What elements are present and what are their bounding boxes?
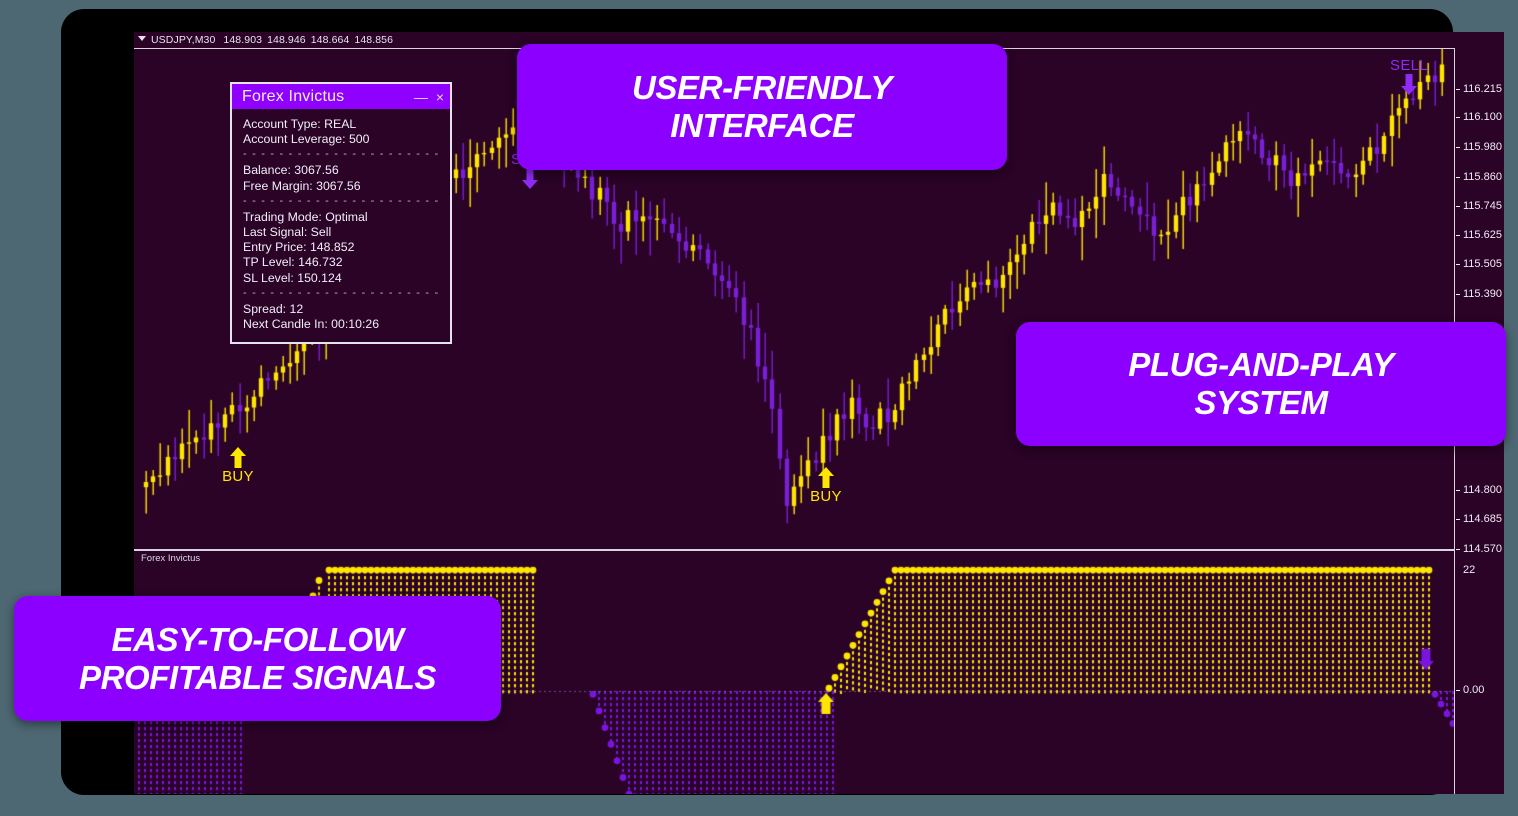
signal-label: SELL — [1369, 57, 1449, 74]
price-tick — [1456, 177, 1460, 178]
forex-invictus-panel[interactable]: Forex Invictus — × Account Type: REAL Ac… — [230, 82, 452, 344]
banner-easy-to-follow: EASY-TO-FOLLOW PROFITABLE SIGNALS — [14, 596, 501, 721]
price-tick-label: 115.860 — [1463, 171, 1502, 183]
panel-body: Account Type: REAL Account Leverage: 500… — [232, 109, 450, 332]
price-tick-label: 114.800 — [1463, 484, 1502, 496]
tp-level-row: TP Level: 146.732 — [243, 255, 450, 270]
price-tick-label: 115.390 — [1463, 288, 1502, 300]
arrow-up-icon — [818, 467, 834, 488]
banner-top-line1: USER-FRIENDLY — [632, 69, 892, 107]
spread-row: Spread: 12 — [243, 302, 450, 317]
indicator-name-label: Forex Invictus — [141, 553, 200, 564]
signal-label: BUY — [786, 488, 866, 505]
banner-plug-and-play: PLUG-AND-PLAY SYSTEM — [1016, 322, 1506, 446]
panel-titlebar[interactable]: Forex Invictus — × — [232, 84, 450, 109]
arrow-down-icon — [1401, 74, 1417, 95]
banner-right-line1: PLUG-AND-PLAY — [1128, 346, 1394, 384]
account-leverage-row: Account Leverage: 500 — [243, 132, 450, 147]
ohlc-values: 148.903148.946148.664148.856 — [223, 34, 398, 46]
price-tick — [1456, 147, 1460, 148]
indicator-scale-axis[interactable]: 220.00-22 — [1456, 550, 1504, 794]
arrow-down-icon — [522, 168, 538, 189]
ohlc-high: 148.946 — [267, 34, 306, 46]
price-tick — [1456, 117, 1460, 118]
price-scale-axis[interactable]: 116.215116.100115.980115.860115.745115.6… — [1456, 48, 1504, 550]
triangle-down-icon[interactable] — [138, 36, 146, 41]
arrow-up-icon — [230, 447, 246, 468]
screenshot-root: USDJPY,M30148.903148.946148.664148.856 B… — [0, 0, 1518, 816]
price-tick — [1456, 294, 1460, 295]
divider-1: - - - - - - - - - - - - - - - - - - - - … — [243, 148, 439, 161]
ohlc-close: 148.856 — [354, 34, 393, 46]
price-tick — [1456, 206, 1460, 207]
price-tick-label: 115.505 — [1463, 258, 1502, 270]
ohlc-low: 148.664 — [311, 34, 350, 46]
price-tick-label: 116.215 — [1463, 83, 1502, 95]
price-tick — [1456, 264, 1460, 265]
banner-top-line2: INTERFACE — [670, 107, 853, 145]
panel-title-label: Forex Invictus — [242, 88, 406, 106]
price-tick — [1456, 490, 1460, 491]
price-tick-label: 116.100 — [1463, 111, 1502, 123]
banner-user-friendly: USER-FRIENDLY INTERFACE — [517, 44, 1007, 170]
indicator-tick-label: 0.00 — [1463, 684, 1484, 696]
banner-left-line2: PROFITABLE SIGNALS — [79, 659, 436, 697]
indicator-tick-label: 22 — [1463, 564, 1475, 576]
signal-marker-sell: SELL — [1369, 57, 1449, 95]
price-tick-label: 114.685 — [1463, 513, 1502, 525]
signal-label: BUY — [198, 468, 278, 485]
price-tick — [1456, 89, 1460, 90]
sl-level-row: SL Level: 150.124 — [243, 271, 450, 286]
close-icon[interactable]: × — [436, 90, 444, 104]
price-tick — [1456, 519, 1460, 520]
trading-mode-row: Trading Mode: Optimal — [243, 210, 450, 225]
last-signal-row: Last Signal: Sell — [243, 225, 450, 240]
price-tick-label: 115.745 — [1463, 200, 1502, 212]
signal-marker-buy: BUY — [786, 467, 866, 505]
indicator-tick — [1456, 690, 1460, 691]
price-tick-label: 115.625 — [1463, 229, 1502, 241]
next-candle-row: Next Candle In: 00:10:26 — [243, 317, 450, 332]
free-margin-row: Free Margin: 3067.56 — [243, 179, 450, 194]
divider-3: - - - - - - - - - - - - - - - - - - - - … — [243, 287, 439, 300]
divider-2: - - - - - - - - - - - - - - - - - - - - … — [243, 195, 439, 208]
symbol-timeframe-label: USDJPY,M30 — [151, 34, 215, 46]
account-type-row: Account Type: REAL — [243, 117, 450, 132]
price-tick-label: 115.980 — [1463, 141, 1502, 153]
balance-row: Balance: 3067.56 — [243, 163, 450, 178]
ohlc-open: 148.903 — [223, 34, 262, 46]
price-tick — [1456, 235, 1460, 236]
banner-left-line1: EASY-TO-FOLLOW — [112, 621, 404, 659]
entry-price-row: Entry Price: 148.852 — [243, 240, 450, 255]
minimize-icon[interactable]: — — [414, 90, 428, 104]
banner-right-line2: SYSTEM — [1194, 384, 1327, 422]
signal-marker-buy: BUY — [198, 447, 278, 485]
